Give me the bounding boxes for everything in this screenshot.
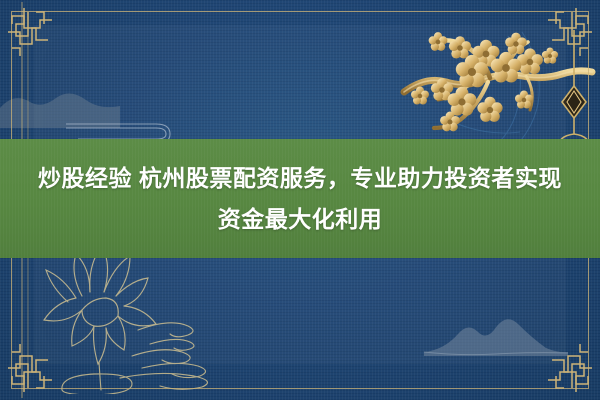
corner-fret-bottom-left-icon xyxy=(6,342,58,394)
page-title: 炒股经验 杭州股票配资服务，专业助力投资者实现资金最大化利用 xyxy=(35,158,565,240)
corner-fret-top-left-icon xyxy=(6,6,58,58)
mountain-silhouette-right-icon xyxy=(420,300,570,365)
mountain-silhouette-left-icon xyxy=(0,86,120,133)
corner-fret-bottom-right-icon xyxy=(542,342,594,394)
corner-fret-top-right-icon xyxy=(542,6,594,58)
title-band: 炒股经验 杭州股票配资服务，专业助力投资者实现资金最大化利用 xyxy=(0,139,600,258)
lotus-line-art-icon xyxy=(20,244,240,399)
poster-canvas: 炒股经验 杭州股票配资服务，专业助力投资者实现资金最大化利用 xyxy=(0,0,600,400)
